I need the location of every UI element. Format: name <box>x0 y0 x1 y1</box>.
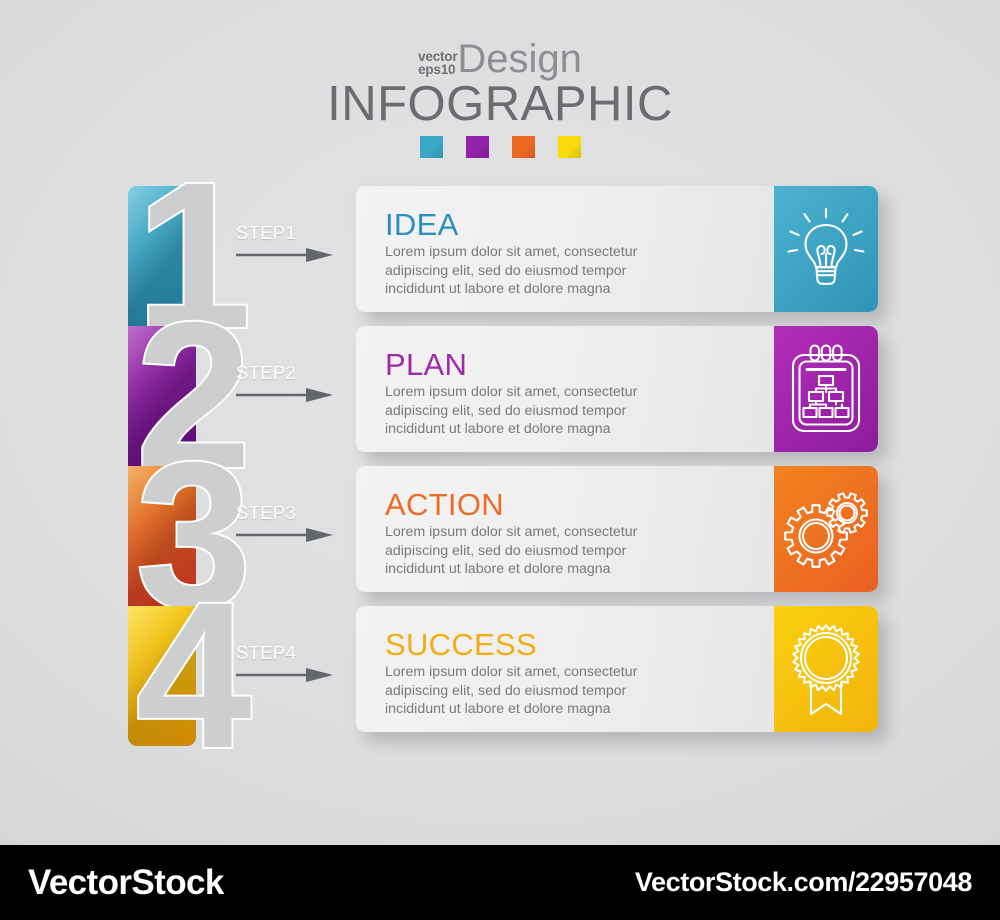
swatch-yellow <box>558 136 581 158</box>
header: vector eps10 Design INFOGRAPHIC <box>0 36 1000 158</box>
step-card[interactable]: SUCCESS Lorem ipsum dolor sit amet, cons… <box>356 606 878 732</box>
step-card-text: SUCCESS Lorem ipsum dolor sit amet, cons… <box>385 628 805 719</box>
step-card-body: Lorem ipsum dolor sit amet, consectetur … <box>385 523 805 579</box>
eps-version-text: eps10 <box>418 64 457 77</box>
step-row: 3 STEP3 ACTION Lorem ipsum dolor sit ame… <box>0 466 1000 606</box>
step-card-text: ACTION Lorem ipsum dolor sit amet, conse… <box>385 488 805 579</box>
design-line: vector eps10 Design <box>0 36 1000 80</box>
gears-icon <box>774 466 878 592</box>
step-card-title: ACTION <box>385 488 805 522</box>
step-color-block <box>128 606 196 746</box>
swatch-purple <box>466 136 489 158</box>
step-arrow-icon <box>236 527 334 543</box>
step-color-block <box>128 186 196 326</box>
brand-logo-text: VectorStock <box>28 863 224 903</box>
color-block-sheen <box>128 466 196 606</box>
step-card-text: IDEA Lorem ipsum dolor sit amet, consect… <box>385 208 805 299</box>
step-card-body: Lorem ipsum dolor sit amet, consectetur … <box>385 663 805 719</box>
color-block-sheen <box>128 326 196 466</box>
swatch-teal <box>420 136 443 158</box>
lightbulb-icon <box>774 186 878 312</box>
step-color-block <box>128 466 196 606</box>
step-card-body: Lorem ipsum dolor sit amet, consectetur … <box>385 243 805 299</box>
swatch-orange <box>512 136 535 158</box>
step-arrow-icon <box>236 387 334 403</box>
clipboard-orgchart-icon <box>774 326 878 452</box>
step-label: STEP1 <box>236 222 348 244</box>
step-card[interactable]: PLAN Lorem ipsum dolor sit amet, consect… <box>356 326 878 452</box>
step-card-body: Lorem ipsum dolor sit amet, consectetur … <box>385 383 805 439</box>
step-card-title: IDEA <box>385 208 805 242</box>
infographic-canvas: vector eps10 Design INFOGRAPHIC 1 STEP1 … <box>0 0 1000 845</box>
color-block-sheen <box>128 606 196 746</box>
page-title: INFOGRAPHIC <box>0 78 1000 130</box>
step-row: 2 STEP2 PLAN Lorem ipsum dolor sit amet,… <box>0 326 1000 466</box>
step-label: STEP2 <box>236 362 348 384</box>
step-arrow-group: STEP3 <box>236 502 348 543</box>
step-card-title: PLAN <box>385 348 805 382</box>
step-card[interactable]: ACTION Lorem ipsum dolor sit amet, conse… <box>356 466 878 592</box>
color-swatch-row <box>0 136 1000 158</box>
step-arrow-icon <box>236 667 334 683</box>
award-medal-icon <box>774 606 878 732</box>
step-arrow-group: STEP1 <box>236 222 348 263</box>
footer-bar: VectorStock VectorStock.com/22957048 <box>0 845 1000 920</box>
step-card-title: SUCCESS <box>385 628 805 662</box>
step-row: 4 STEP4 SUCCESS Lorem ipsum dolor sit am… <box>0 606 1000 746</box>
brand-url-text: VectorStock.com/22957048 <box>635 867 972 898</box>
step-label: STEP4 <box>236 642 348 664</box>
step-color-block <box>128 326 196 466</box>
step-card[interactable]: IDEA Lorem ipsum dolor sit amet, consect… <box>356 186 878 312</box>
step-arrow-icon <box>236 247 334 263</box>
color-block-sheen <box>128 186 196 326</box>
design-word: Design <box>457 38 582 80</box>
step-arrow-group: STEP2 <box>236 362 348 403</box>
step-card-text: PLAN Lorem ipsum dolor sit amet, consect… <box>385 348 805 439</box>
step-arrow-group: STEP4 <box>236 642 348 683</box>
step-row: 1 STEP1 IDEA Lorem ipsum dolor sit amet,… <box>0 186 1000 326</box>
eps-badge: vector eps10 <box>418 51 457 80</box>
step-label: STEP3 <box>236 502 348 524</box>
